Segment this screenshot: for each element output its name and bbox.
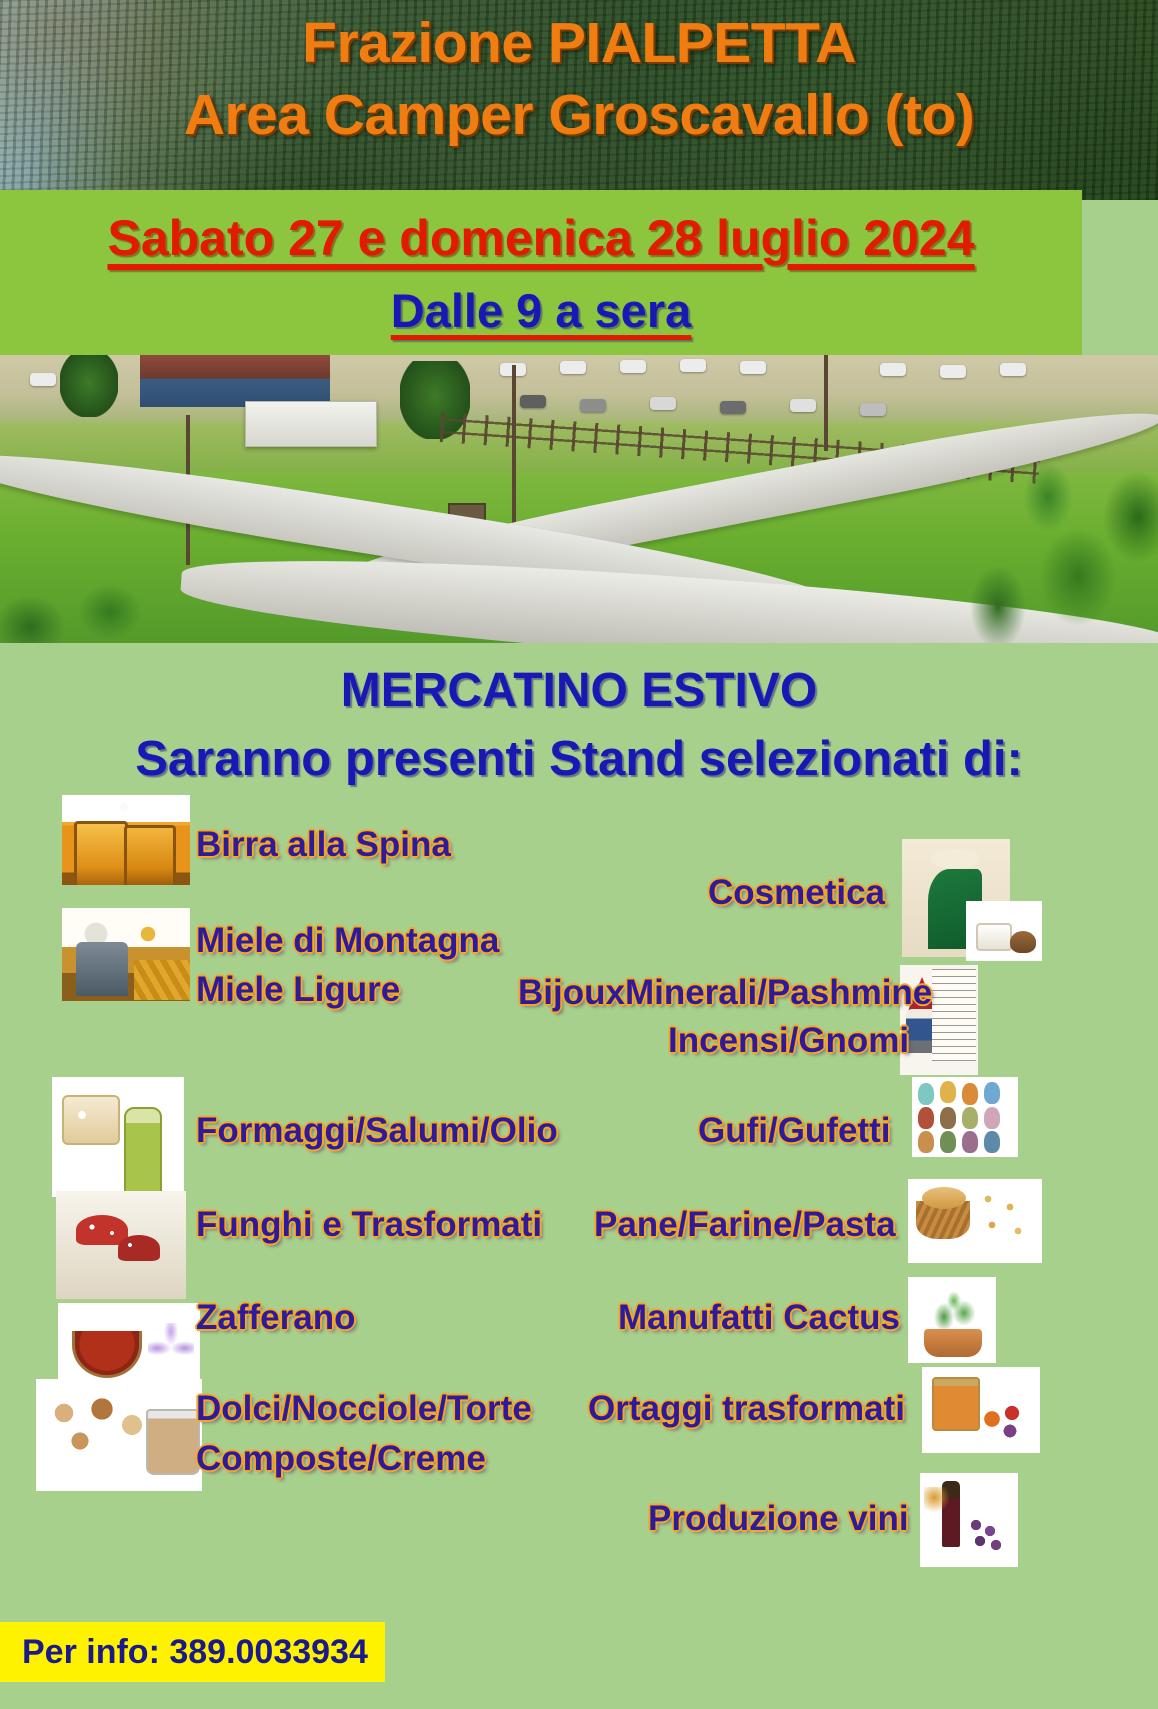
stand-label-formaggi: Formaggi/Salumi/Olio: [196, 1111, 558, 1151]
parked-car: [30, 373, 56, 386]
pasta-shapes: [976, 1189, 1036, 1247]
stand-label-zafferano: Zafferano: [196, 1298, 355, 1338]
vine-leaf: [924, 1487, 950, 1513]
utility-pole: [824, 355, 828, 451]
poster-title: Frazione PIALPETTA Area Camper Groscaval…: [0, 0, 1158, 200]
stand-label-gufi: Gufi/Gufetti: [698, 1111, 890, 1151]
owls-icon: [912, 1077, 1018, 1157]
mushrooms-icon: [56, 1191, 186, 1299]
parked-car: [720, 401, 746, 414]
beer-mugs-icon: [62, 795, 190, 885]
parked-car: [880, 363, 906, 376]
stand-label-composte: Composte/Creme: [196, 1439, 486, 1479]
stand-label-birra: Birra alla Spina: [196, 825, 451, 865]
foreground-plants-right: [958, 457, 1158, 647]
parked-car: [520, 395, 546, 408]
sweets-icon: [36, 1379, 202, 1491]
cosmetic-jars-icon: [966, 901, 1042, 961]
foreground-plants-left: [0, 527, 180, 647]
event-dates: Sabato 27 e domenica 28 luglio 2024: [107, 209, 974, 267]
parked-car: [620, 360, 646, 373]
stand-label-miele-ligure: Miele Ligure: [196, 970, 400, 1010]
beekeeper-icon: [62, 908, 190, 1001]
parked-car: [940, 365, 966, 378]
wine-grapes-icon: [920, 1473, 1018, 1567]
parked-car: [580, 399, 606, 412]
parked-car: [790, 399, 816, 412]
parked-car: [560, 361, 586, 374]
cheese-oil-icon: [52, 1077, 184, 1197]
event-poster: Frazione PIALPETTA Area Camper Groscaval…: [0, 0, 1158, 1709]
parked-car: [680, 359, 706, 372]
section-heading-secondary: Saranno presenti Stand selezionati di:: [0, 731, 1158, 787]
stand-label-bijoux: BijouxMinerali/Pashmine: [518, 973, 932, 1013]
parked-car: [740, 361, 766, 374]
section-heading-primary: MERCATINO ESTIVO: [0, 663, 1158, 718]
cactus-icon: [908, 1277, 996, 1363]
stand-label-pane: Pane/Farine/Pasta: [594, 1205, 896, 1245]
bread-basket-icon: [908, 1179, 1042, 1263]
contact-phone: Per info: 389.0033934: [22, 1633, 368, 1672]
preserved-vegetables-icon: [922, 1367, 1040, 1453]
stand-label-funghi: Funghi e Trasformati: [196, 1205, 542, 1245]
stands-section: MERCATINO ESTIVO Saranno presenti Stand …: [0, 643, 1158, 1709]
title-line-1: Frazione PIALPETTA: [302, 14, 856, 72]
stand-label-ortaggi: Ortaggi trasformati: [588, 1389, 905, 1429]
parked-car: [1000, 363, 1026, 376]
stand-label-cactus: Manufatti Cactus: [618, 1298, 900, 1338]
camper-area-photo: [0, 355, 1158, 647]
stand-label-dolci: Dolci/Nocciole/Torte: [196, 1389, 532, 1429]
contact-info-box: Per info: 389.0033934: [0, 1622, 385, 1682]
stand-label-miele-montagna: Miele di Montagna: [196, 921, 499, 961]
stand-label-incensi: Incensi/Gnomi: [668, 1021, 909, 1061]
building: [140, 355, 330, 407]
parked-car: [650, 397, 676, 410]
stand-label-vini: Produzione vini: [648, 1499, 909, 1539]
marquee-tent: [245, 401, 377, 447]
stand-label-cosmetica: Cosmetica: [708, 873, 885, 913]
gnome-note: [932, 969, 976, 1061]
parked-car: [860, 403, 886, 416]
date-band: Sabato 27 e domenica 28 luglio 2024 Dall…: [0, 190, 1082, 355]
tree: [60, 355, 118, 417]
event-hours: Dalle 9 a sera: [391, 283, 692, 338]
title-line-2: Area Camper Groscavallo (to): [184, 86, 975, 144]
